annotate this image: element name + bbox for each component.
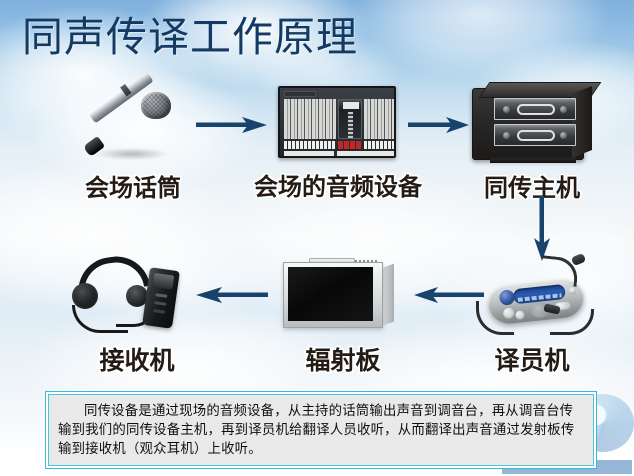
mixer-front-edge [284,151,394,156]
mixer-meter-bridge [284,91,316,97]
cloud-decoration [350,0,610,80]
radiator-frame [283,262,383,328]
rack-knob [503,132,510,139]
slide-canvas: 同声传译工作原理 会场话筒 会场的音频设备 [0,0,634,476]
console-button [515,310,525,320]
rack-knob [560,132,567,139]
interpreter-console-icon [480,255,600,341]
caption-box: 同传设备是通过现场的音频设备，从主持的话筒输出声音到调音台，再从调音台传输到我们… [48,394,594,466]
node-label-mixer: 会场的音频设备 [238,167,438,202]
mixer-record-buttons [338,141,362,149]
console-button [503,307,515,319]
mixer-button-row-right [364,141,394,149]
node-label-mic: 会场话筒 [48,168,218,203]
arrow-radiator-to-receiver [196,282,268,308]
radiator-emitter-face [288,267,373,321]
rack-amplifier-icon [472,82,600,164]
mixer-fader-bank-right [364,99,394,139]
microphone-icon [85,88,180,168]
console-microphone-capsule [571,253,586,266]
rack-handle [517,104,555,115]
node-label-console: 译员机 [462,341,602,377]
console-button [569,287,577,295]
headphone-receiver-icon [70,255,188,335]
rack-side-panel [572,86,592,158]
arrow-console-to-radiator [414,282,484,308]
mixer-fader-bank-left [284,99,336,139]
rack-foot [490,158,576,163]
arrow-mic-to-mixer [196,112,268,138]
console-display [513,284,566,304]
mixer-button-row-left [284,141,336,149]
caption-text: 同传设备是通过现场的音频设备，从主持的话筒输出声音到调音台，再从调音台传输到我们… [58,402,584,459]
node-label-receiver: 接收机 [62,341,212,377]
receiver-unit [142,267,180,329]
arrow-mainbox-to-console [530,196,554,262]
radiator-panel-icon [283,258,395,334]
mixing-console-icon [278,86,396,158]
arrow-mixer-to-mainbox [408,112,470,138]
headphone-earcup [72,283,98,309]
microphone-shadow [95,148,169,160]
slide-title: 同声传译工作原理 [22,12,358,62]
rack-knob [503,106,510,113]
rack-unit-top [494,98,576,120]
rack-unit-bottom [494,124,576,146]
mixer-master-section [338,99,362,139]
rack-knob [560,106,567,113]
microphone-grille [141,92,171,119]
rack-handle [517,130,555,141]
node-label-radiator: 辐射板 [268,341,418,377]
